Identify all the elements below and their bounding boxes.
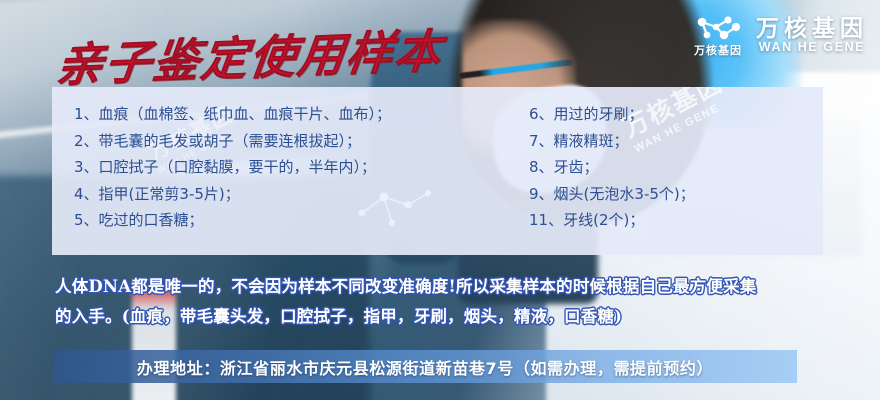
sample-list-left: 1、血痕（血棉签、纸巾血、血痕干片、血布）； 2、带毛囊的毛发或胡子（需要连根拔… — [52, 101, 507, 255]
list-item: 6、用过的牙刷； — [529, 101, 823, 128]
address-bar: 办理地址：浙江省丽水市庆元县松源街道新苗巷7号（如需办理，需提前预约） — [53, 350, 797, 383]
list-item: 8、牙齿； — [529, 154, 823, 181]
logo-wordmark: 万核基因 WAN HE GENE — [756, 16, 868, 55]
molecule-network-icon — [694, 14, 742, 44]
sample-list-right: 6、用过的牙刷； 7、精液精斑； 8、牙齿； 9、烟头(无泡水3-5个)； 11… — [507, 101, 823, 255]
address-text: 办理地址：浙江省丽水市庆元县松源街道新苗巷7号（如需办理，需提前预约） — [137, 355, 713, 379]
list-item: 9、烟头(无泡水3-5个)； — [529, 181, 823, 208]
list-item: 4、指甲(正常剪3-5片)； — [74, 181, 507, 208]
logo-name-en: WAN HE GENE — [756, 40, 868, 55]
logo-mark-label: 万核基因 — [694, 46, 742, 57]
brand-logo: 万核基因 万核基因 WAN HE GENE — [694, 14, 868, 57]
list-item: 2、带毛囊的毛发或胡子（需要连根拔起）； — [74, 128, 507, 155]
list-item: 3、口腔拭子（口腔黏膜，要干的，半年内）； — [74, 154, 507, 181]
list-item: 7、精液精斑； — [529, 128, 823, 155]
sample-columns: 1、血痕（血棉签、纸巾血、血痕干片、血布）； 2、带毛囊的毛发或胡子（需要连根拔… — [52, 87, 823, 255]
list-item: 1、血痕（血棉签、纸巾血、血痕干片、血布）； — [74, 101, 507, 128]
note-line-1: 人体DNA都是唯一的，不会因为样本不同改变准确度!所以采集样本的时候根据自己最方… — [55, 277, 757, 296]
list-item: 5、吃过的口香糖； — [74, 207, 507, 234]
list-item: 11、牙线(2个)； — [529, 207, 823, 234]
sample-list-panel: 万核基因 WAN HE GENE 万核基因 WAN HE GENE — [52, 87, 823, 255]
note-line-2: 的入手。(血痕，带毛囊头发，口腔拭子，指甲，牙刷，烟头，精液，口香糖) — [55, 302, 845, 332]
logo-mark: 万核基因 — [694, 14, 742, 57]
logo-name-cn: 万核基因 — [756, 16, 868, 40]
poster-root: 万核基因 万核基因 WAN HE GENE 亲子鉴定使用样本 万核基因 WAN … — [0, 0, 880, 400]
note-paragraph: 人体DNA都是唯一的，不会因为样本不同改变准确度!所以采集样本的时候根据自己最方… — [55, 272, 845, 332]
